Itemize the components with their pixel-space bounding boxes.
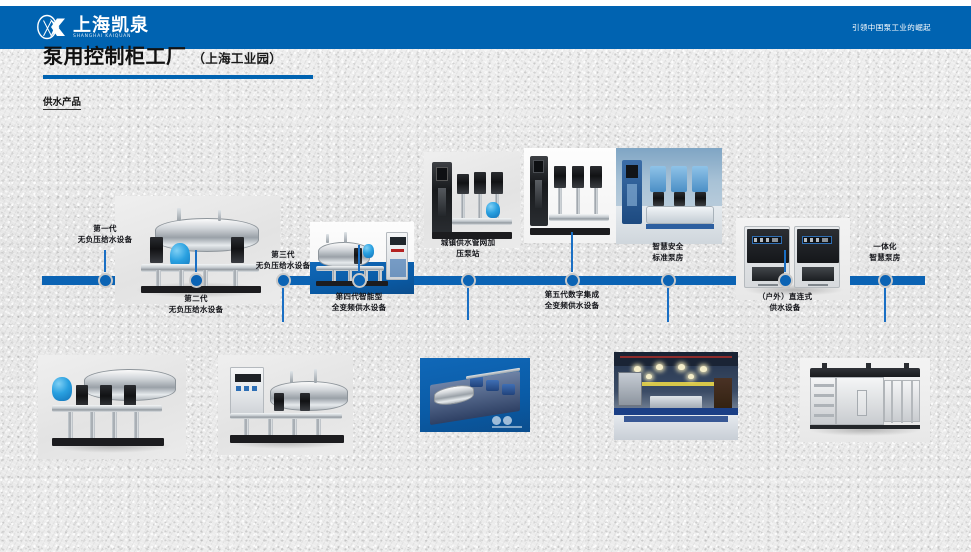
control-cabinet <box>230 367 264 415</box>
photo-smart-standard-pump-room[interactable] <box>614 352 738 440</box>
container-louver-panel <box>810 377 836 425</box>
timeline-stem <box>784 250 786 272</box>
timeline-dot <box>461 273 476 288</box>
photo-municipal-booster-station[interactable] <box>616 148 722 244</box>
container-door-panel <box>836 377 884 425</box>
title-block: 泵用控制柜工厂 （上海工业园） 供水产品 <box>43 40 313 110</box>
timeline-label-3: 第三代 无负压给水设备 <box>235 250 331 271</box>
control-cabinet <box>530 156 548 226</box>
skid-base <box>646 206 714 224</box>
timeline-dot <box>276 273 291 288</box>
control-cabinet <box>386 232 408 280</box>
timeline-dot <box>98 273 113 288</box>
brand-logo[interactable]: 上海凯泉 SHANGHAI KAIQUAN <box>36 14 149 42</box>
timeline-label-8: （户外）直连式 供水设备 <box>735 292 835 313</box>
crane-beam <box>628 382 724 386</box>
photo-outdoor-direct-supply-unit[interactable] <box>736 218 850 300</box>
timeline-stem <box>467 288 469 320</box>
timeline-label-2: 第二代 无负压给水设备 <box>148 294 244 315</box>
photo-municipal-booster-station-render[interactable] <box>420 358 530 432</box>
timeline-stem <box>104 250 106 272</box>
container-roof <box>810 368 920 377</box>
timeline-label-5: 城镇供水管网加 压泵站 <box>418 238 518 259</box>
page-title: 泵用控制柜工厂 <box>43 40 187 69</box>
timeline-label-6: 第五代数字集成 全变频供水设备 <box>522 290 622 311</box>
container-base <box>810 425 920 429</box>
timeline-dot <box>352 273 367 288</box>
timeline-label-7: 智慧安全 标准泵房 <box>624 242 712 263</box>
door <box>714 378 732 412</box>
slide-page: 上海凯泉 SHANGHAI KAIQUAN 引领中国泵工业的崛起 泵用控制柜工厂… <box>0 0 971 552</box>
timeline-label-9: 一体化 智慧泵房 <box>841 242 929 263</box>
title-underline <box>43 75 313 79</box>
container-side-panel <box>884 380 920 422</box>
timeline-dot <box>661 273 676 288</box>
timeline-stem <box>195 250 197 272</box>
timeline-stem <box>667 288 669 322</box>
timeline-stem <box>571 232 573 272</box>
page-title-location: （上海工业园） <box>193 48 283 67</box>
timeline-stem <box>884 288 886 322</box>
base-frame <box>141 286 261 293</box>
header-slogan-text: 引领中国泵工业的崛起 <box>852 22 931 33</box>
header-slogan: 引领中国泵工业的崛起 <box>852 6 931 49</box>
section-subtitle: 供水产品 <box>43 94 81 110</box>
brand-name-cn: 上海凯泉 <box>73 17 149 34</box>
brand-name-en: SHANGHAI KAIQUAN <box>73 34 149 40</box>
timeline-stem <box>282 288 284 322</box>
outdoor-cabinet-right <box>794 226 840 288</box>
expansion-vessel <box>52 377 72 401</box>
control-cabinet <box>432 162 452 234</box>
watermark-logo <box>492 416 522 428</box>
switchgear-panels <box>618 372 642 406</box>
timeline-dot <box>189 273 204 288</box>
timeline-dot <box>565 273 580 288</box>
fire-pipe <box>620 356 732 358</box>
timeline-label-4: 第四代智能型 全变频供水设备 <box>309 292 409 313</box>
photo-gen2-booster-unit[interactable] <box>38 355 186 459</box>
timeline-stem <box>358 245 360 272</box>
photo-gen4-vfd-unit[interactable] <box>424 152 520 248</box>
photo-gen5-digital-vfd-unit[interactable] <box>524 148 617 243</box>
timeline-label-1: 第一代 无负压给水设备 <box>57 224 153 245</box>
timeline-dot <box>878 273 893 288</box>
kaiquan-logo-icon <box>36 14 66 42</box>
photo-integrated-smart-pump-house[interactable] <box>800 358 930 442</box>
control-cabinet <box>622 160 642 224</box>
timeline-dot <box>778 273 793 288</box>
photo-gen2-booster-unit-alt[interactable] <box>218 355 353 455</box>
